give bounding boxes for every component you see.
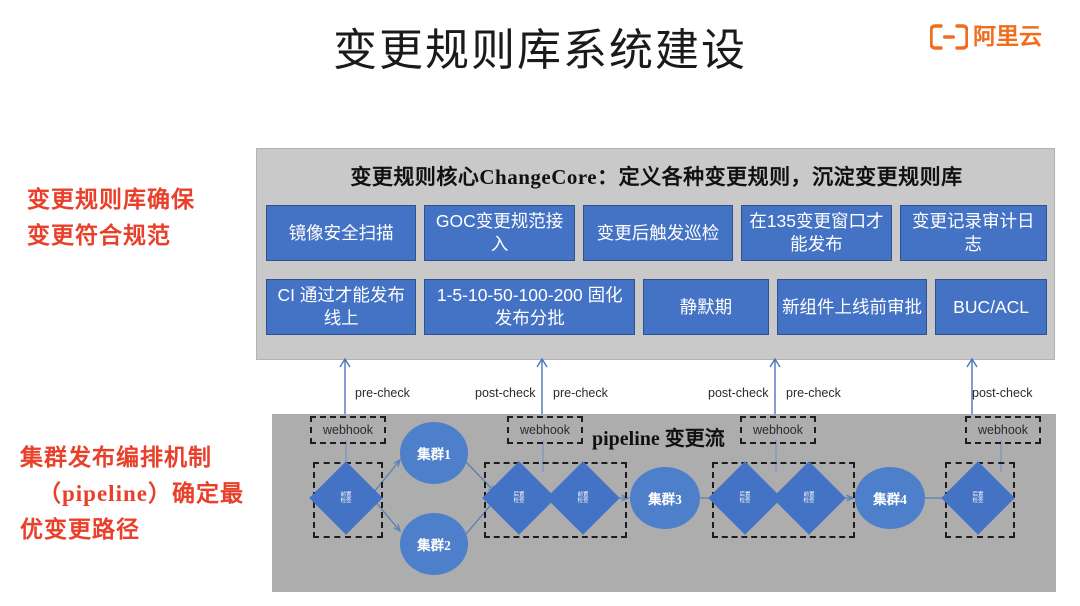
diamond-label-line2: 检查 — [513, 498, 524, 505]
webhook-box[interactable]: webhook — [310, 416, 386, 444]
diamond-label: 后置检查 — [719, 472, 771, 524]
check-diamond-node[interactable]: 后置检查 — [493, 472, 545, 524]
diamond-label: 前置检查 — [557, 472, 609, 524]
diamond-label: 后置检查 — [952, 472, 1004, 524]
webhook-box[interactable]: webhook — [965, 416, 1041, 444]
diamond-label-line2: 检查 — [577, 498, 588, 505]
check-diamond-node[interactable]: 前置检查 — [320, 472, 372, 524]
slide-root: 变更规则库系统建设 阿里云 变更规则库确保 变更符合规范 集群发布编排机制 （p… — [0, 0, 1080, 606]
cluster-node[interactable]: 集群1 — [400, 422, 468, 484]
check-diamond-node[interactable]: 后置检查 — [952, 472, 1004, 524]
check-diamond-node[interactable]: 前置检查 — [557, 472, 609, 524]
cluster-node[interactable]: 集群4 — [855, 467, 925, 529]
check-diamond-node[interactable]: 后置检查 — [719, 472, 771, 524]
cluster-node[interactable]: 集群3 — [630, 467, 700, 529]
webhook-box[interactable]: webhook — [740, 416, 816, 444]
diamond-label: 前置检查 — [320, 472, 372, 524]
diamond-label-line2: 检查 — [739, 498, 750, 505]
diamond-label-line2: 检查 — [803, 498, 814, 505]
diamond-label: 前置检查 — [783, 472, 835, 524]
diamond-label-line2: 检查 — [340, 498, 351, 505]
diamond-label-line2: 检查 — [972, 498, 983, 505]
diamond-label: 后置检查 — [493, 472, 545, 524]
cluster-node[interactable]: 集群2 — [400, 513, 468, 575]
check-diamond-node[interactable]: 前置检查 — [783, 472, 835, 524]
webhook-box[interactable]: webhook — [507, 416, 583, 444]
